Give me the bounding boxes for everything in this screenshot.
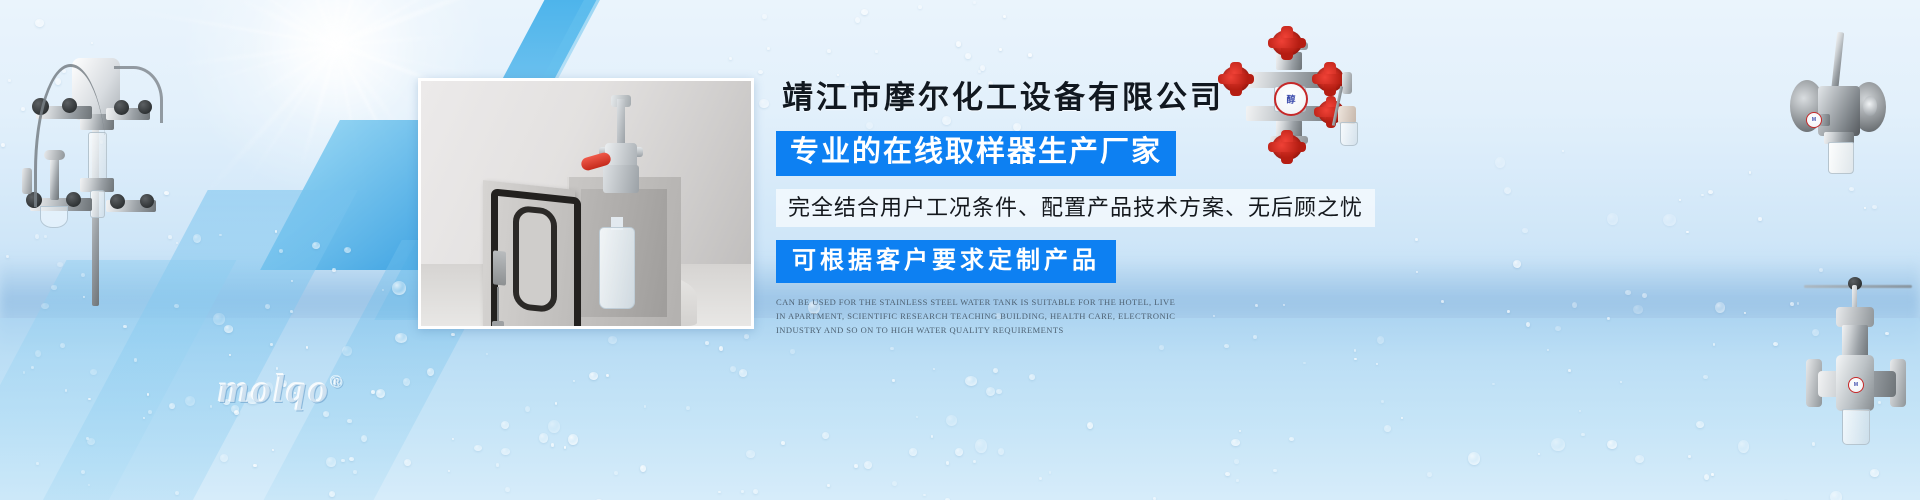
photo-valve-assembly [597,99,643,195]
sub-headline: 完全结合用户工况条件、配置产品技术方案、无后顾之忧 [776,189,1375,227]
headline-badge: 专业的在线取样器生产厂家 [776,131,1176,176]
headline-text-block: 靖江市摩尔化工设备有限公司 专业的在线取样器生产厂家 完全结合用户工况条件、配置… [776,72,1396,337]
product-photo [418,78,754,329]
right-top-valve-illustration: M [1778,28,1918,218]
promo-banner: 醇 M M 靖江市摩尔化工设备有限公司 专业的在线取样器生产厂家 完全结合用户工… [0,0,1920,500]
english-description: CAN BE USED FOR THE STAINLESS STEEL WATE… [776,295,1181,337]
custom-product-badge: 可根据客户要求定制产品 [776,240,1116,283]
watermark-logo: molqo® [218,365,345,412]
registered-mark-icon: ® [330,373,345,392]
watermark-logo-text: molqo [218,366,330,411]
company-name: 靖江市摩尔化工设备有限公司 [782,72,1396,117]
